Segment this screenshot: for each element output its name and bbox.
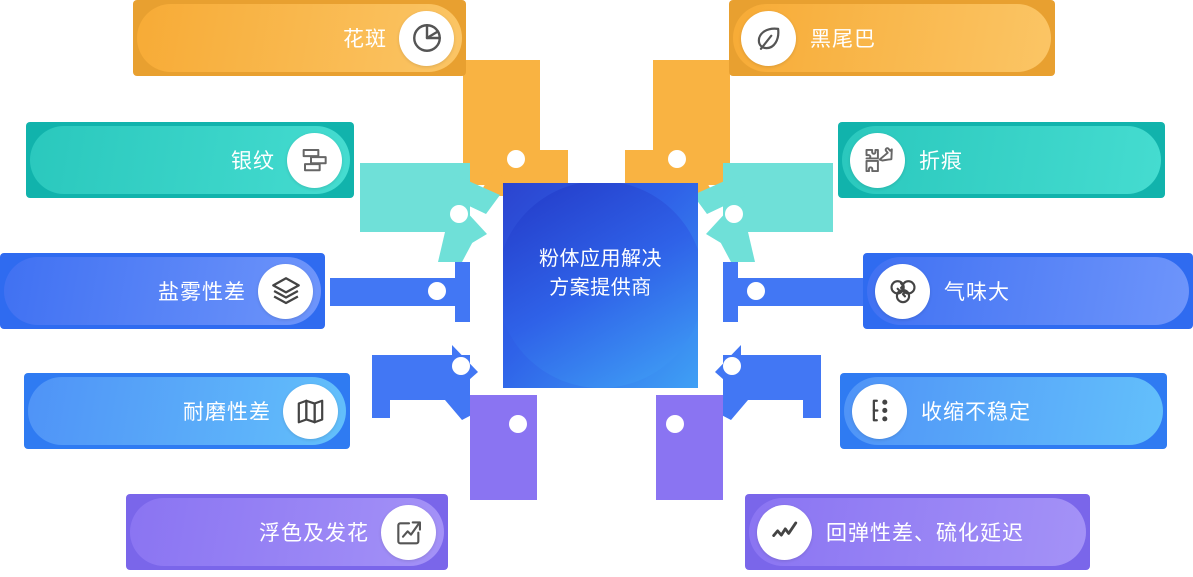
node-right-2-body[interactable]: 折痕 <box>842 126 1161 194</box>
node-right-3-label: 气味大 <box>944 276 1010 306</box>
node-left-2-label: 银纹 <box>231 145 275 175</box>
node-left-3[interactable]: 盐雾性差 <box>0 253 325 329</box>
node-left-5[interactable]: 浮色及发花 <box>126 494 448 570</box>
pie-chart-icon <box>399 11 454 66</box>
node-left-4[interactable]: 耐磨性差 <box>24 373 350 449</box>
center-node-label: 粉体应用解决 方案提供商 <box>503 245 698 303</box>
node-left-4-body[interactable]: 耐磨性差 <box>28 377 346 445</box>
node-right-1-body[interactable]: 黑尾巴 <box>733 4 1051 72</box>
connector-left-5 <box>470 395 537 500</box>
puzzle-icon <box>850 133 905 188</box>
node-left-2-body[interactable]: 银纹 <box>30 126 350 194</box>
node-left-1-label: 花斑 <box>343 23 387 53</box>
node-right-5-label: 回弹性差、硫化延迟 <box>826 517 1024 547</box>
connector-right-3 <box>723 262 863 322</box>
node-left-5-label: 浮色及发花 <box>259 517 369 547</box>
node-right-1[interactable]: 黑尾巴 <box>729 0 1055 76</box>
line-chart-icon <box>757 505 812 560</box>
node-left-5-body[interactable]: 浮色及发花 <box>130 498 444 566</box>
node-left-1-body[interactable]: 花斑 <box>137 4 462 72</box>
map-icon <box>283 384 338 439</box>
growth-box-icon <box>381 505 436 560</box>
recycle-icon <box>875 264 930 319</box>
node-right-4[interactable]: 收缩不稳定 <box>840 373 1167 449</box>
node-left-3-body[interactable]: 盐雾性差 <box>4 257 321 325</box>
layers-icon <box>258 264 313 319</box>
connector-right-5 <box>656 395 723 500</box>
connector-left-3 <box>330 262 470 322</box>
node-left-1[interactable]: 花斑 <box>133 0 466 76</box>
leaf-icon <box>741 11 796 66</box>
node-right-2[interactable]: 折痕 <box>838 122 1165 198</box>
brick-wall-icon <box>287 133 342 188</box>
infographic-diagram: 粉体应用解决 方案提供商 花斑 银纹 <box>0 0 1193 577</box>
node-left-2[interactable]: 银纹 <box>26 122 354 198</box>
node-left-3-label: 盐雾性差 <box>158 276 246 306</box>
tree-hierarchy-icon <box>852 384 907 439</box>
node-right-3-body[interactable]: 气味大 <box>867 257 1189 325</box>
node-right-5-body[interactable]: 回弹性差、硫化延迟 <box>749 498 1086 566</box>
node-right-4-label: 收缩不稳定 <box>921 396 1031 426</box>
node-left-4-label: 耐磨性差 <box>183 396 271 426</box>
node-right-2-label: 折痕 <box>919 145 963 175</box>
node-right-5[interactable]: 回弹性差、硫化延迟 <box>745 494 1090 570</box>
node-right-1-label: 黑尾巴 <box>810 23 876 53</box>
node-right-3[interactable]: 气味大 <box>863 253 1193 329</box>
node-right-4-body[interactable]: 收缩不稳定 <box>844 377 1163 445</box>
center-node[interactable]: 粉体应用解决 方案提供商 <box>503 183 698 388</box>
connector-right-1 <box>625 60 730 196</box>
connector-left-4 <box>372 345 485 420</box>
connector-right-4 <box>708 345 821 420</box>
connector-left-1 <box>463 60 568 196</box>
